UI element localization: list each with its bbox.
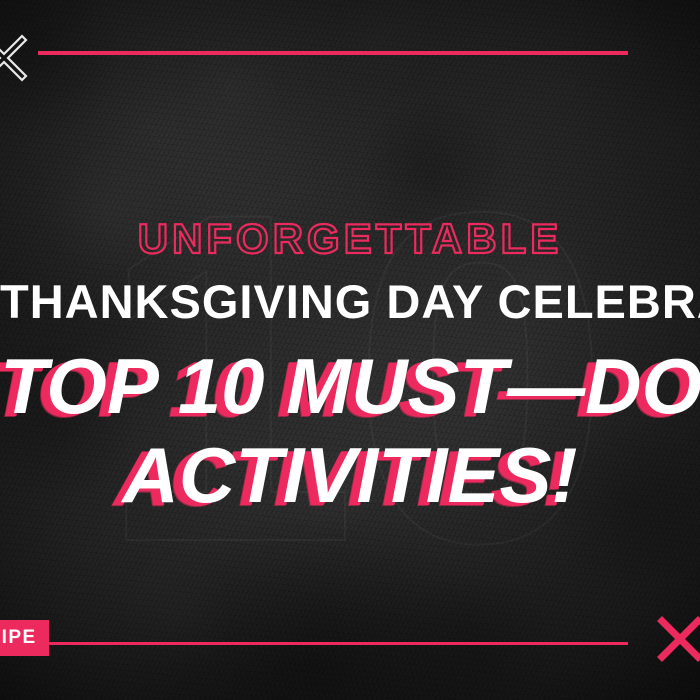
- eyebrow-text: UNFORGETTABLE: [0, 218, 700, 260]
- x-outline-icon: [0, 32, 30, 84]
- bottom-divider-rule: [38, 642, 628, 645]
- subheadline-text: THANKSGIVING DAY CELEBRATION: [0, 278, 700, 325]
- top-divider-rule: [38, 51, 628, 55]
- main-headline-line2: ACTIVITIES!: [0, 434, 700, 517]
- poster-canvas: 10 SWIPE UNFORGETTABLE THANKSGIVING DAY …: [0, 0, 700, 700]
- x-solid-icon: [655, 614, 700, 664]
- headline-block: UNFORGETTABLE THANKSGIVING DAY CELEBRATI…: [0, 218, 700, 516]
- main-headline-line1: TOP 10 MUST—DO: [0, 345, 700, 428]
- swipe-badge[interactable]: SWIPE: [0, 620, 49, 656]
